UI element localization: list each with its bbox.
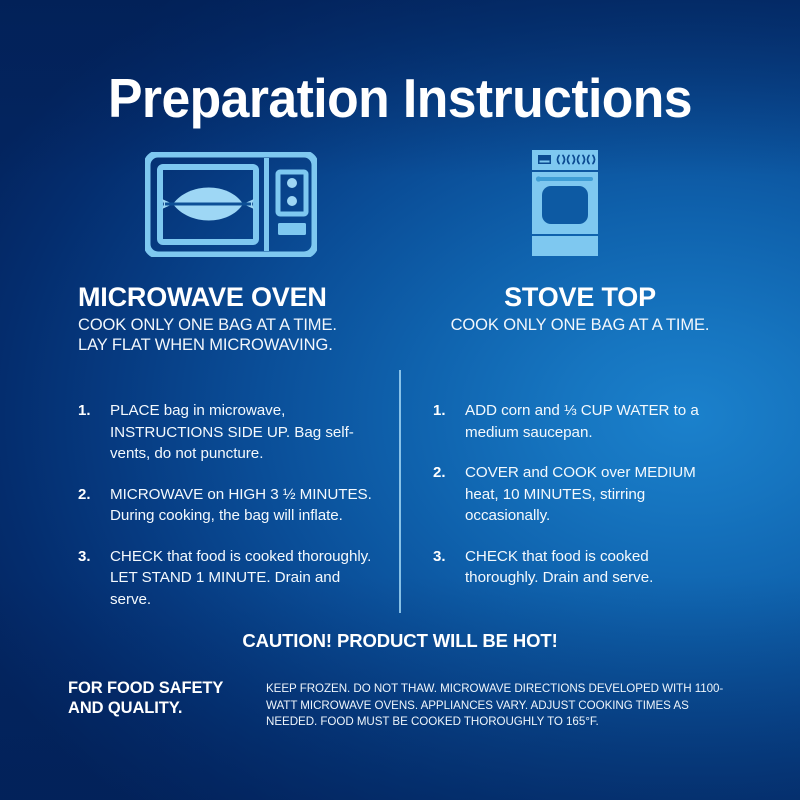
microwave-icon (145, 152, 317, 262)
column-divider (399, 370, 401, 613)
step-text: CHECK that food is cooked thoroughly. Dr… (465, 546, 723, 589)
step-number: 3. (78, 546, 91, 567)
footer-heading-line-1: FOR FOOD SAFETY (68, 678, 258, 698)
section-microwave-oven: MICROWAVE OVEN COOK ONLY ONE BAG AT A TI… (78, 282, 388, 355)
step-number: 2. (78, 484, 91, 505)
footer-body-text: KEEP FROZEN. DO NOT THAW. MICROWAVE DIRE… (266, 681, 741, 731)
footer-heading: FOR FOOD SAFETY AND QUALITY. (68, 678, 258, 718)
section-subtitle-microwave-line-2: LAY FLAT WHEN MICROWAVING. (78, 335, 388, 355)
step-number: 1. (433, 400, 446, 421)
step-number: 1. (78, 400, 91, 421)
steps-list-stove: 1. ADD corn and ⅓ CUP WATER to a medium … (433, 400, 723, 589)
section-heading-stove: STOVE TOP (420, 282, 740, 312)
step-text: ADD corn and ⅓ CUP WATER to a medium sau… (465, 400, 723, 443)
step-text: PLACE bag in microwave, INSTRUCTIONS SID… (110, 400, 378, 465)
caution-notice: CAUTION! PRODUCT WILL BE HOT! (0, 629, 800, 653)
section-subtitle-stove-line-1: COOK ONLY ONE BAG AT A TIME. (420, 315, 740, 335)
list-item: 1. PLACE bag in microwave, INSTRUCTIONS … (78, 400, 378, 465)
list-item: 2. COVER and COOK over MEDIUM heat, 10 M… (433, 462, 723, 527)
preparation-instructions-panel: Preparation Instructions (0, 0, 800, 800)
step-text: COVER and COOK over MEDIUM heat, 10 MINU… (465, 462, 723, 527)
step-number: 3. (433, 546, 446, 567)
list-item: 3. CHECK that food is cooked thoroughly.… (433, 546, 723, 589)
page-title: Preparation Instructions (24, 68, 776, 128)
section-stove-top: STOVE TOP COOK ONLY ONE BAG AT A TIME. (420, 282, 740, 335)
section-heading-microwave: MICROWAVE OVEN (78, 282, 388, 312)
step-text: CHECK that food is cooked thoroughly. LE… (110, 546, 378, 611)
footer-heading-line-2: AND QUALITY. (68, 698, 258, 718)
list-item: 3. CHECK that food is cooked thoroughly.… (78, 546, 378, 611)
step-number: 2. (433, 462, 446, 483)
list-item: 1. ADD corn and ⅓ CUP WATER to a medium … (433, 400, 723, 443)
stove-icon (528, 148, 602, 265)
section-subtitle-microwave-line-1: COOK ONLY ONE BAG AT A TIME. (78, 315, 388, 335)
steps-list-microwave: 1. PLACE bag in microwave, INSTRUCTIONS … (78, 400, 378, 610)
list-item: 2. MICROWAVE on HIGH 3 ½ MINUTES. During… (78, 484, 378, 527)
step-text: MICROWAVE on HIGH 3 ½ MINUTES. During co… (110, 484, 378, 527)
